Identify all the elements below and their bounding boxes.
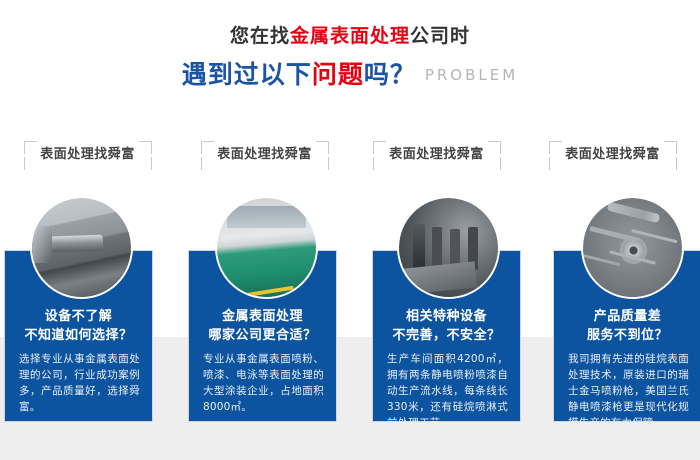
bracket-label-text: 表面处理找舜富 [201, 146, 329, 164]
card-title: 金属表面处理 哪家公司更合适？ [195, 307, 330, 345]
card-title: 相关特种设备 不完善，不安全？ [379, 307, 514, 345]
card-body-text: 我司拥有先进的硅烷表面处理技术，原装进口的瑞士金马喷粉枪，美国兰氏静电喷漆枪更是… [568, 351, 689, 431]
bracket-label: 表面处理找舜富 [201, 141, 329, 170]
bracket-label: 表面处理找舜富 [24, 141, 152, 170]
card-title-line-1: 产品质量差 [560, 307, 695, 326]
card-body-text: 选择专业从事金属表面处理的公司，行业成功案例多，产品质量好，选择舜富。 [19, 351, 140, 415]
lathe-machine-photo [30, 196, 133, 299]
bracket-label-text: 表面处理找舜富 [549, 146, 677, 164]
header-line2-prefix: 遇到过以下 [182, 60, 312, 89]
header-line2-highlight: 问题 [312, 60, 364, 89]
factory-workshop-photo-image [217, 198, 316, 297]
card-title-line-1: 设备不了解 [11, 307, 146, 326]
bracket-label: 表面处理找舜富 [373, 141, 501, 170]
metal-parts-photo [397, 196, 500, 299]
bracket-label-text: 表面处理找舜富 [373, 146, 501, 164]
page-header: 您在找金属表面处理公司时 遇到过以下问题吗？PROBLEM [0, 0, 700, 91]
card-title-line-1: 相关特种设备 [379, 307, 514, 326]
header-english-label: PROBLEM [425, 66, 518, 84]
factory-workshop-photo [215, 196, 318, 299]
header-line1-highlight: 金属表面处理 [290, 25, 410, 47]
header-line1-prefix: 您在找 [230, 25, 290, 47]
header-line2-suffix: 吗？ [364, 60, 416, 89]
card-body-text: 专业从事金属表面喷粉、喷漆、电泳等表面处理的大型涂装企业，占地面积8000㎡。 [203, 351, 324, 415]
bracket-label-text: 表面处理找舜富 [24, 146, 152, 164]
header-line-1: 您在找金属表面处理公司时 [0, 24, 700, 48]
lathe-machine-photo-image [32, 198, 131, 297]
header-line-2: 遇到过以下问题吗？PROBLEM [0, 59, 700, 91]
bolts-and-nuts-photo [581, 196, 684, 299]
card-title: 产品质量差 服务不到位？ [560, 307, 695, 345]
card-title-line-2: 哪家公司更合适？ [195, 326, 330, 345]
card-title-line-1: 金属表面处理 [195, 307, 330, 326]
card-title-line-2: 不完善，不安全？ [379, 326, 514, 345]
header-line1-suffix: 公司时 [410, 25, 470, 47]
card-title-line-2: 服务不到位？ [560, 326, 695, 345]
bolts-and-nuts-photo-image [583, 198, 682, 297]
metal-parts-photo-image [399, 198, 498, 297]
bracket-label: 表面处理找舜富 [549, 141, 677, 170]
card-title: 设备不了解 不知道如何选择？ [11, 307, 146, 345]
card-title-line-2: 不知道如何选择？ [11, 326, 146, 345]
card-body-text: 生产车间面积4200㎡，拥有两条静电喷粉喷漆自动生产流水线，每条线长330米，还… [387, 351, 508, 431]
